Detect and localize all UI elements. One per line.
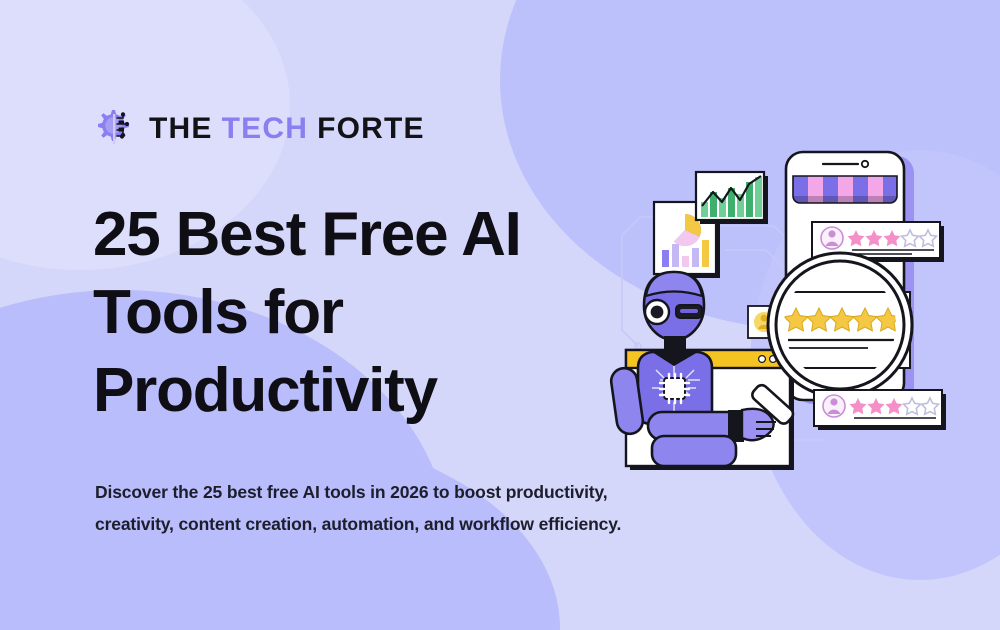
chip-square	[664, 378, 685, 399]
title-line-2: Tools for	[93, 274, 633, 352]
subtitle-line-2: creativity, content creation, automation…	[95, 508, 715, 540]
title-line-1: 25 Best Free AI	[93, 196, 633, 274]
logo-word-forte: FORTE	[317, 112, 425, 145]
gear-circuit-icon	[92, 106, 138, 152]
review-card-bottom	[814, 390, 946, 430]
ai-review-robot-illustration	[600, 130, 980, 490]
logo-word-the: THE	[149, 112, 213, 145]
page-title: 25 Best Free AI Tools for Productivity	[93, 196, 633, 430]
awning-stripes	[793, 174, 898, 206]
bar-chart-card	[696, 172, 768, 224]
logo-word-tech: TECH	[222, 112, 308, 145]
brand-logo[interactable]: THETECHFORTE	[92, 106, 425, 152]
title-line-3: Productivity	[93, 352, 633, 430]
